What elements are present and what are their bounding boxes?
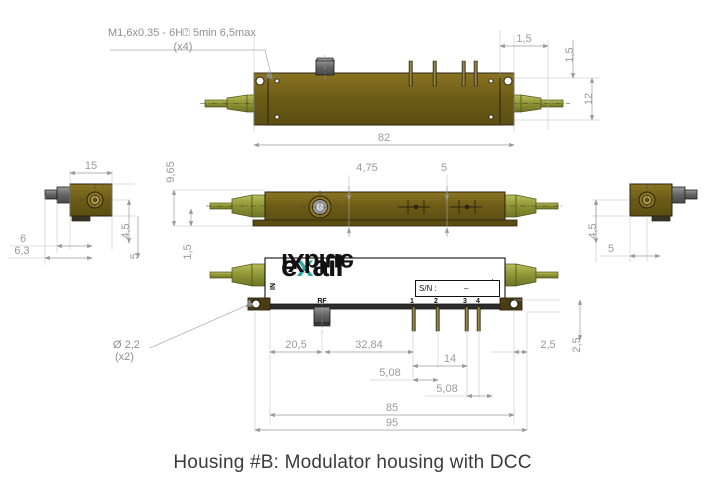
dim-top-length: 82 (378, 132, 390, 144)
serial-number-box: S/N : – (415, 280, 500, 297)
label-in: IN (270, 283, 277, 290)
label-pin-2: 2 (434, 298, 438, 305)
serial-number-value: – (464, 284, 468, 293)
dim-pin1-offset: 32,84 (355, 339, 383, 351)
dim-left-width: 15 (85, 160, 97, 172)
dim-right-height-mid: 4,5 (587, 223, 599, 238)
figure-caption: Housing #B: Modulator housing with DCC (0, 452, 705, 474)
thread-callout-line1: M1,6x0.35 - 6H⍰ 5min 6,5max (108, 27, 256, 39)
hole-callout-line1: Ø 2,2 (113, 339, 140, 351)
hole-callout-line2: (x2) (115, 351, 134, 363)
dim-top-height: 12 (583, 93, 595, 105)
dim-rf-offset: 20,5 (285, 339, 306, 351)
label-pin-3: 3 (463, 298, 467, 305)
right-side-view: 4,5 5 (587, 184, 697, 262)
dim-mid-base-height: 1,5 (182, 244, 194, 259)
dim-left-height-mid: 4,5 (120, 223, 132, 238)
dim-overall-length: 95 (386, 417, 398, 429)
drawing-canvas: 1,5 1,5 12 82 15 (0, 0, 705, 490)
dim-left-connector-b: 6,3 (14, 245, 29, 257)
dim-mid-total-height: 9,65 (165, 161, 177, 182)
brand-logo-sub-text: iXblue (281, 248, 353, 278)
middle-front-view: 4,75 5 9,65 1,5 (165, 161, 564, 259)
label-pin-4: 4 (476, 298, 480, 305)
bottom-view-pins (412, 307, 480, 331)
serial-number-label: S/N : (419, 284, 437, 293)
dim-top-flange-right: 1,5 (564, 47, 576, 62)
dim-left-connector-a: 6 (20, 233, 26, 245)
dim-left-height-total: 5 (129, 253, 141, 259)
dim-pitch-b: 5,08 (436, 383, 457, 395)
dim-edge-offset-v: 2,5 (571, 337, 583, 352)
dim-mid-pin-offset: 4,75 (356, 162, 377, 174)
left-side-view: 15 6 6,3 4,5 5 (8, 160, 141, 265)
technical-drawing-svg: 1,5 1,5 12 82 15 (0, 0, 705, 490)
dim-pitch-a: 5,08 (379, 367, 400, 379)
label-rf: RF (317, 298, 327, 305)
dim-edge-offset-h: 2,5 (540, 339, 555, 351)
dim-body-length: 85 (386, 402, 398, 414)
dim-mid-pin-pitch: 5 (441, 162, 447, 174)
thread-callout-line2: (x4) (174, 41, 193, 53)
dim-top-flange-left: 1,5 (516, 33, 531, 45)
dim-right-offset: 5 (608, 243, 614, 255)
dim-pin-span: 14 (444, 353, 456, 365)
label-pin-1: 1 (410, 298, 414, 305)
bottom-view: 20,5 32,84 14 5,08 5,08 85 95 2,5 2,5 (150, 258, 583, 430)
brand-logo-ixblue: iXblue (281, 250, 353, 276)
